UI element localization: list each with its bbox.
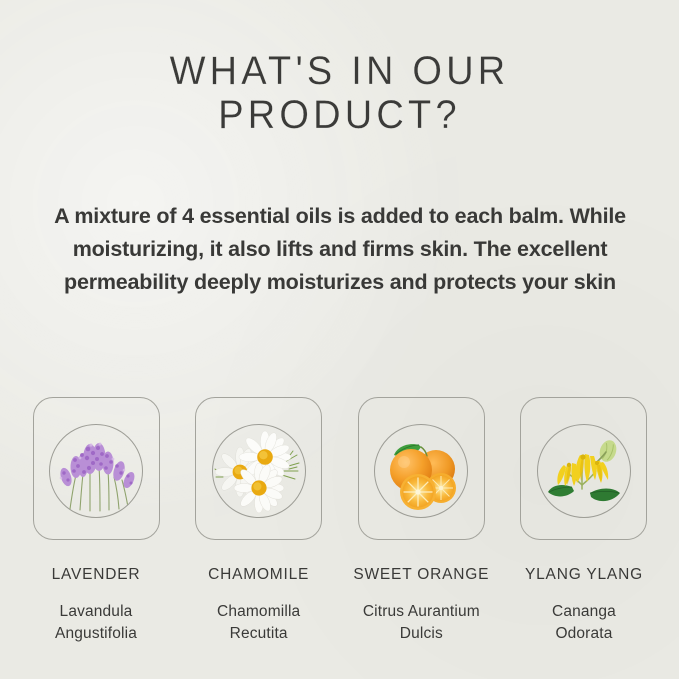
ingredient-latin: Chamomilla Recutita: [179, 601, 339, 645]
ingredient-card-sweet-orange[interactable]: SWEET ORANGE Citrus Aurantium Dulcis: [350, 397, 492, 645]
ingredient-name: SWEET ORANGE: [353, 566, 489, 584]
ingredient-latin-line2: Dulcis: [341, 623, 501, 645]
ingredient-latin-line1: Lavandula: [16, 601, 176, 623]
title-line-2: PRODUCT?: [0, 92, 679, 139]
sweet-orange-icon: [375, 425, 467, 517]
ylang-ylang-icon: [538, 425, 630, 517]
infographic-page: WHAT'S IN OUR PRODUCT? A mixture of 4 es…: [0, 0, 679, 679]
ingredient-name: YLANG YLANG: [525, 566, 643, 584]
ingredient-latin-line2: Angustifolia: [16, 623, 176, 645]
ingredient-latin: Citrus Aurantium Dulcis: [341, 601, 501, 645]
ingredient-image-circle: [49, 424, 143, 518]
ingredient-card-ylang-ylang[interactable]: YLANG YLANG Cananga Odorata: [513, 397, 655, 645]
ingredient-latin-line1: Citrus Aurantium: [341, 601, 501, 623]
ingredient-latin-line2: Recutita: [179, 623, 339, 645]
ingredient-name: LAVENDER: [52, 566, 141, 584]
page-title: WHAT'S IN OUR PRODUCT?: [0, 48, 679, 136]
ingredient-card-frame: [33, 397, 160, 540]
ingredient-card-chamomile[interactable]: CHAMOMILE Chamomilla Recutita: [188, 397, 330, 645]
ingredient-latin-line1: Chamomilla: [179, 601, 339, 623]
ingredient-card-lavender[interactable]: LAVENDER Lavandula Angustifolia: [25, 397, 167, 645]
ingredient-image-circle: [212, 424, 306, 518]
ingredient-card-frame: [358, 397, 485, 540]
product-description: A mixture of 4 essential oils is added t…: [40, 200, 640, 299]
ingredient-card-frame: [195, 397, 322, 540]
ingredient-latin: Lavandula Angustifolia: [16, 601, 176, 645]
chamomile-icon: [213, 425, 305, 517]
ingredient-latin-line1: Cananga: [504, 601, 664, 623]
ingredient-latin: Cananga Odorata: [504, 601, 664, 645]
ingredient-name: CHAMOMILE: [208, 566, 309, 584]
lavender-icon: [50, 425, 142, 517]
ingredient-image-circle: [374, 424, 468, 518]
ingredient-image-circle: [537, 424, 631, 518]
title-line-1: WHAT'S IN OUR: [0, 48, 679, 95]
ingredients-row: LAVENDER Lavandula Angustifolia: [25, 397, 655, 645]
ingredient-latin-line2: Odorata: [504, 623, 664, 645]
ingredient-card-frame: [520, 397, 647, 540]
